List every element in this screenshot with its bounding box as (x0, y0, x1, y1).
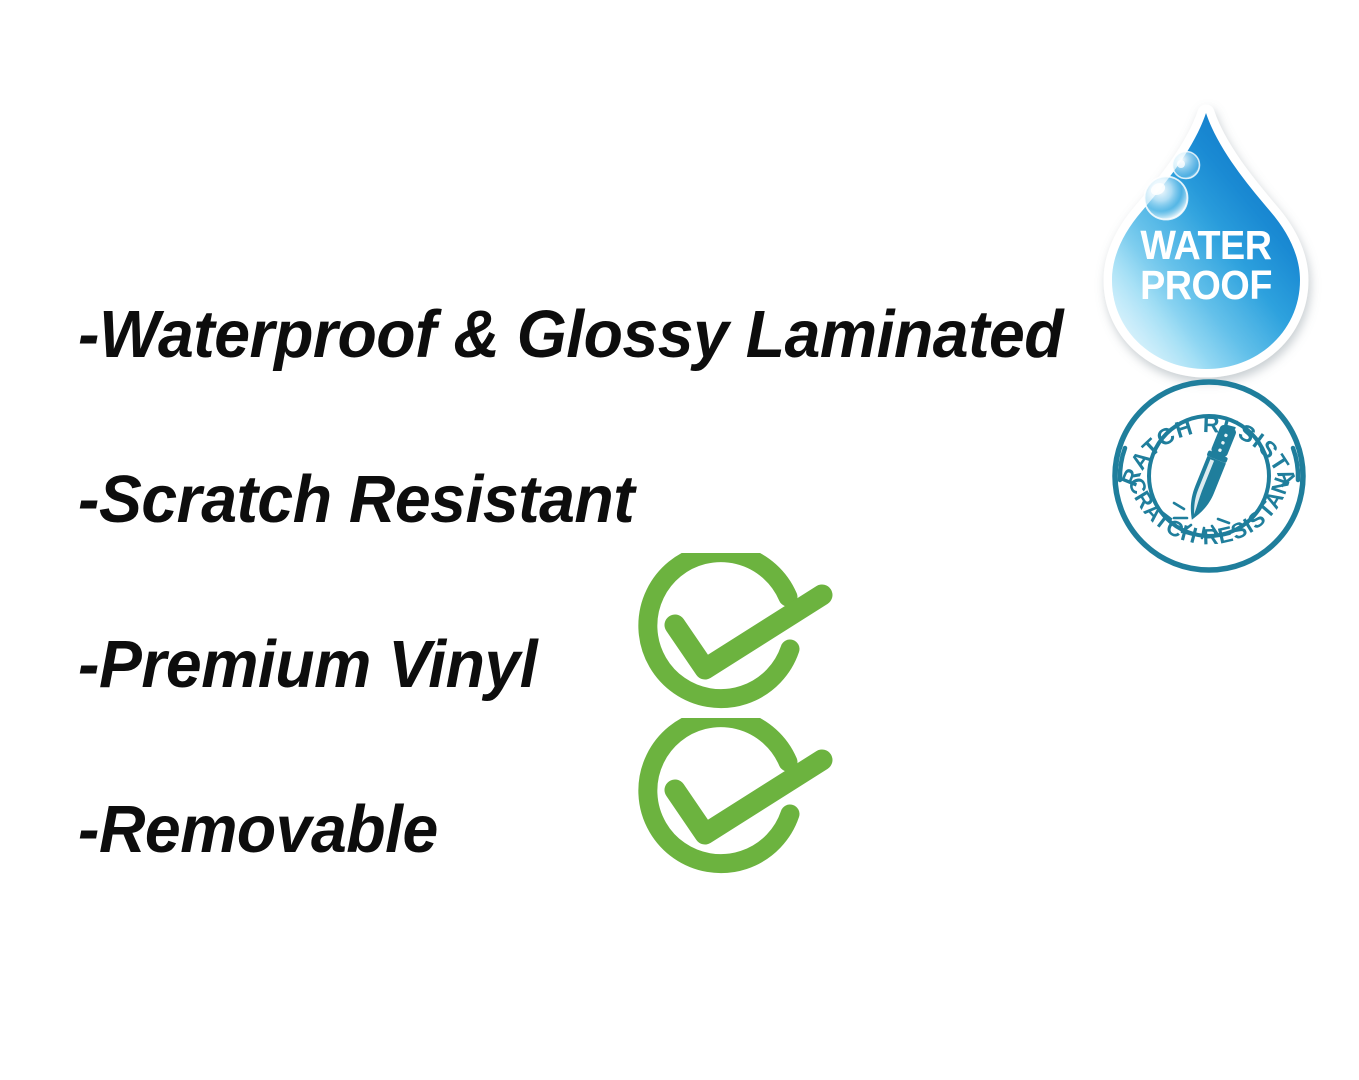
bubble-small-icon (1173, 152, 1200, 179)
knife-blade (1183, 456, 1226, 524)
list-item: -Scratch Resistant (78, 417, 1098, 582)
list-item: -Removable (78, 747, 1098, 912)
bubble-large-icon (1145, 177, 1188, 220)
waterproof-badge: WATER PROOF (1100, 103, 1312, 383)
check-mark (675, 760, 822, 834)
check-circle-icon (636, 553, 834, 711)
knife-stamp-icon: SCRATCH RESISTANT SCRATCH RESISTANT (1108, 378, 1310, 574)
check-circle-removable (636, 718, 834, 876)
bubble-small-highlight (1177, 160, 1185, 168)
check-mark (675, 595, 822, 669)
list-item: -Premium Vinyl (78, 582, 1098, 747)
feature-label-removable: -Removable (78, 796, 438, 863)
check-circle-icon (636, 718, 834, 876)
scratch-resistant-badge: SCRATCH RESISTANT SCRATCH RESISTANT (1108, 378, 1310, 574)
feature-list: -Waterproof & Glossy Laminated -Scratch … (78, 252, 1098, 912)
feature-label-waterproof: -Waterproof & Glossy Laminated (78, 301, 1063, 368)
drop-sheen (1112, 113, 1300, 369)
feature-label-scratch-resistant: -Scratch Resistant (78, 466, 634, 533)
water-drop-icon (1100, 103, 1312, 383)
list-item: -Waterproof & Glossy Laminated (78, 252, 1098, 417)
product-feature-graphic: -Waterproof & Glossy Laminated -Scratch … (0, 0, 1359, 1080)
feature-label-premium-vinyl: -Premium Vinyl (78, 631, 537, 698)
check-circle-premium-vinyl (636, 553, 834, 711)
